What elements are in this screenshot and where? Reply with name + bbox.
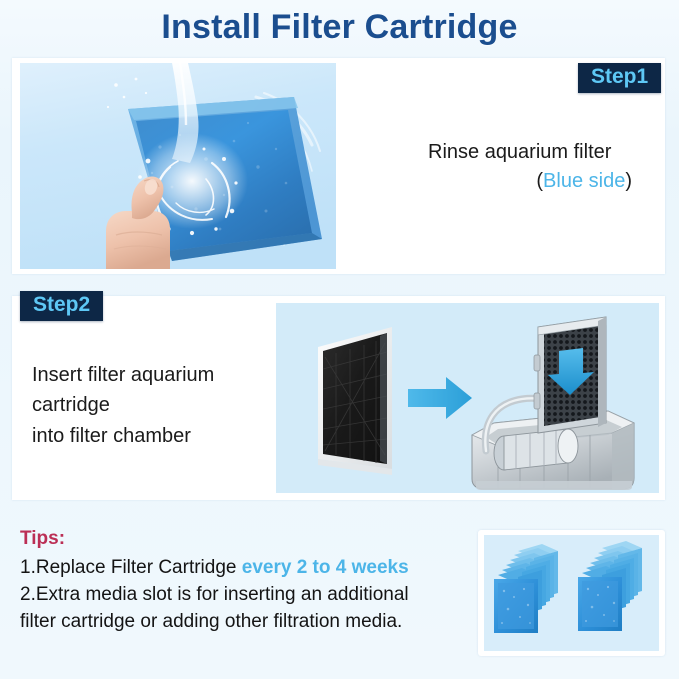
tips-line-1: 1.Replace Filter Cartridge every 2 to 4 … [20, 555, 475, 582]
tips-block: Tips: 1.Replace Filter Cartridge every 2… [20, 528, 475, 636]
step1-badge: Step1 [578, 63, 661, 93]
tips-line-2: 2.Extra media slot is for inserting an a… [20, 582, 475, 609]
paren-close: ) [625, 170, 632, 192]
tips-line-1-prefix: 1.Replace Filter Cartridge [20, 557, 242, 578]
step2-caption: Insert filter aquarium cartridge into fi… [32, 360, 272, 451]
step1-blue-side-highlight: Blue side [543, 170, 625, 192]
tips-photo [484, 535, 659, 651]
step1-photo [20, 63, 336, 269]
step2-illustration [276, 303, 659, 493]
step2-caption-line2: cartridge [32, 390, 272, 420]
tips-line-3: filter cartridge or adding other filtrat… [20, 609, 475, 636]
tips-line-1-highlight: every 2 to 4 weeks [242, 557, 409, 578]
insert-cartridge-illustration [276, 303, 659, 493]
step1-caption: Rinse aquarium filter (Blue side) [360, 138, 650, 196]
rinse-filter-illustration [20, 63, 336, 269]
step1-caption-line2: (Blue side) [360, 167, 650, 196]
filter-pad-stacks-illustration [484, 535, 659, 651]
tips-heading: Tips: [20, 528, 475, 550]
step2-caption-line1: Insert filter aquarium [32, 360, 272, 390]
page-title: Install Filter Cartridge [0, 8, 679, 47]
step1-caption-line1: Rinse aquarium filter [360, 138, 650, 167]
step2-caption-line3: into filter chamber [32, 421, 272, 451]
infographic-page: Install Filter Cartridge [0, 0, 679, 679]
step2-badge: Step2 [20, 291, 103, 321]
